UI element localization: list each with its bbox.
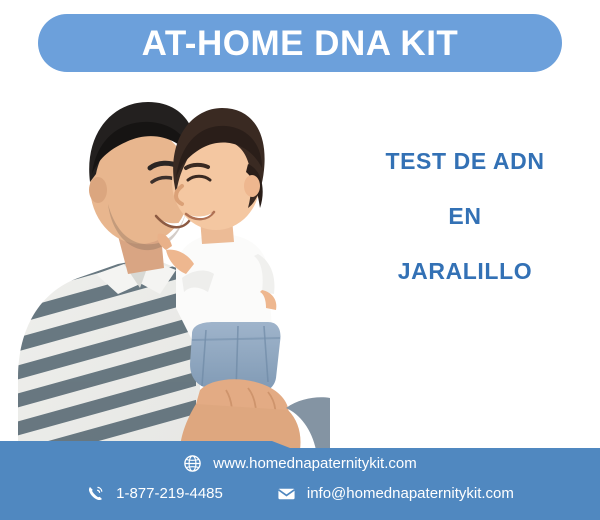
page-title: AT-HOME DNA KIT [142,26,459,61]
footer-email-label: info@homednapaternitykit.com [307,486,514,501]
phone-icon [86,484,105,503]
globe-icon [183,454,202,473]
footer-email[interactable]: info@homednapaternitykit.com [277,484,514,503]
footer-row-website: www.homednapaternitykit.com [0,454,600,473]
footer-website[interactable]: www.homednapaternitykit.com [183,454,416,473]
envelope-icon [277,484,296,503]
headline-line-3: JARALILLO [330,260,600,283]
headline-block: TEST DE ADN EN JARALILLO [330,150,600,283]
header-banner: AT-HOME DNA KIT [38,14,562,72]
headline-line-2: EN [330,205,600,228]
footer-row-contact: 1-877-219-4485 info@homednapaternitykit.… [0,484,600,503]
promo-card: AT-HOME DNA KIT [0,0,600,520]
footer-phone-label: 1-877-219-4485 [116,486,223,501]
footer-phone[interactable]: 1-877-219-4485 [86,484,223,503]
hero-photo [0,78,330,450]
footer-website-label: www.homednapaternitykit.com [213,456,416,471]
footer-bar: www.homednapaternitykit.com 1-877-219-44… [0,436,600,520]
headline-line-1: TEST DE ADN [330,150,600,173]
